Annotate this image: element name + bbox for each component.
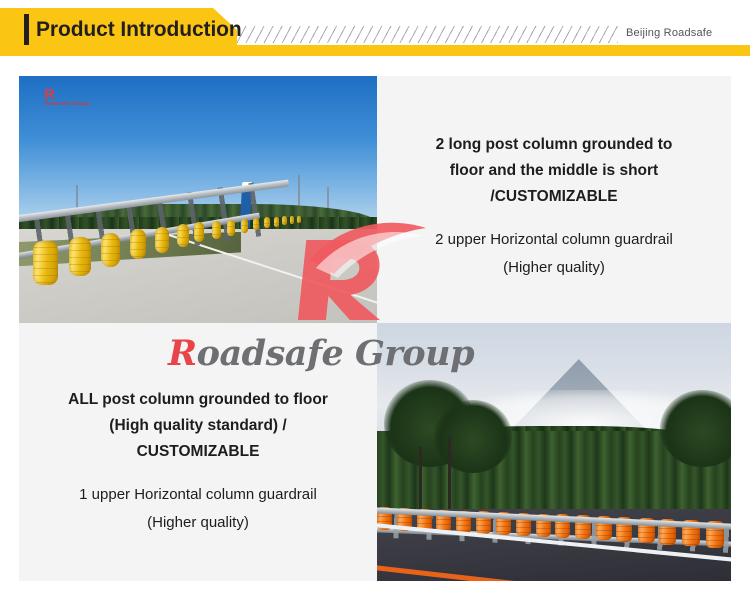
roller-barrier-unit [274,217,279,227]
roller-barrier-unit [264,217,270,228]
page-header: Product Introduction Beijing Roadsafe [0,0,750,60]
text-line: 2 upper Horizontal column guardrail [377,226,731,254]
text-line: /CUSTOMIZABLE [377,184,731,210]
photo-watermark-logo: R Roadsafe Group [44,88,110,118]
roller-barrier-unit [212,221,221,239]
header-accent-bar-icon [24,14,29,45]
bottom-left-bold-text: ALL post column grounded to floor (High … [19,387,377,465]
tree-trunk [448,437,451,509]
roller-barrier-unit [33,241,58,285]
text-line: ALL post column grounded to floor [19,387,377,413]
roller-barrier-unit [101,233,120,267]
roller-barrier-unit [297,216,301,223]
roller-barrier-unit [130,229,146,259]
photo-watermark-mark: R [44,88,110,101]
header-hatch-pattern [237,26,618,43]
content-panel: R Roadsafe Group 2 long post column grou… [19,76,731,581]
brand-label: Beijing Roadsafe [626,27,712,39]
text-line: (Higher quality) [377,254,731,282]
roller-barrier-unit [227,220,235,236]
text-line: (Higher quality) [19,509,377,537]
yellow-roller-barrier-photo: R Roadsafe Group [19,76,377,323]
text-line: (High quality standard) / [19,413,377,439]
roller-barrier-unit [253,218,259,230]
roller-barrier-unit [241,219,248,233]
header-underline-bar [237,45,750,56]
roller-barrier-unit [177,224,189,247]
tree-canopy [434,400,512,472]
roller-barrier-unit [194,222,204,242]
roller-barrier-unit [69,237,91,276]
top-right-regular-text: 2 upper Horizontal column guardrail (Hig… [377,226,731,282]
top-right-text-cell: 2 long post column grounded to floor and… [377,76,731,323]
text-line: 1 upper Horizontal column guardrail [19,481,377,509]
roller-barrier-unit [155,227,169,253]
top-right-bold-text: 2 long post column grounded to floor and… [377,132,731,210]
orange-roller-barrier-photo [377,323,731,581]
tree-trunk [419,447,422,509]
text-line: floor and the middle is short [377,158,731,184]
text-line: CUSTOMIZABLE [19,439,377,465]
bottom-left-regular-text: 1 upper Horizontal column guardrail (Hig… [19,481,377,537]
text-line: 2 long post column grounded to [377,132,731,158]
page-title: Product Introduction [36,14,242,45]
roller-barrier-unit [290,216,294,224]
photo-watermark-word: Roadsafe Group [44,101,110,107]
top-left-photo-cell: R Roadsafe Group [19,76,377,323]
bottom-left-text-cell: ALL post column grounded to floor (High … [19,323,377,581]
bottom-right-photo-cell [377,323,731,581]
